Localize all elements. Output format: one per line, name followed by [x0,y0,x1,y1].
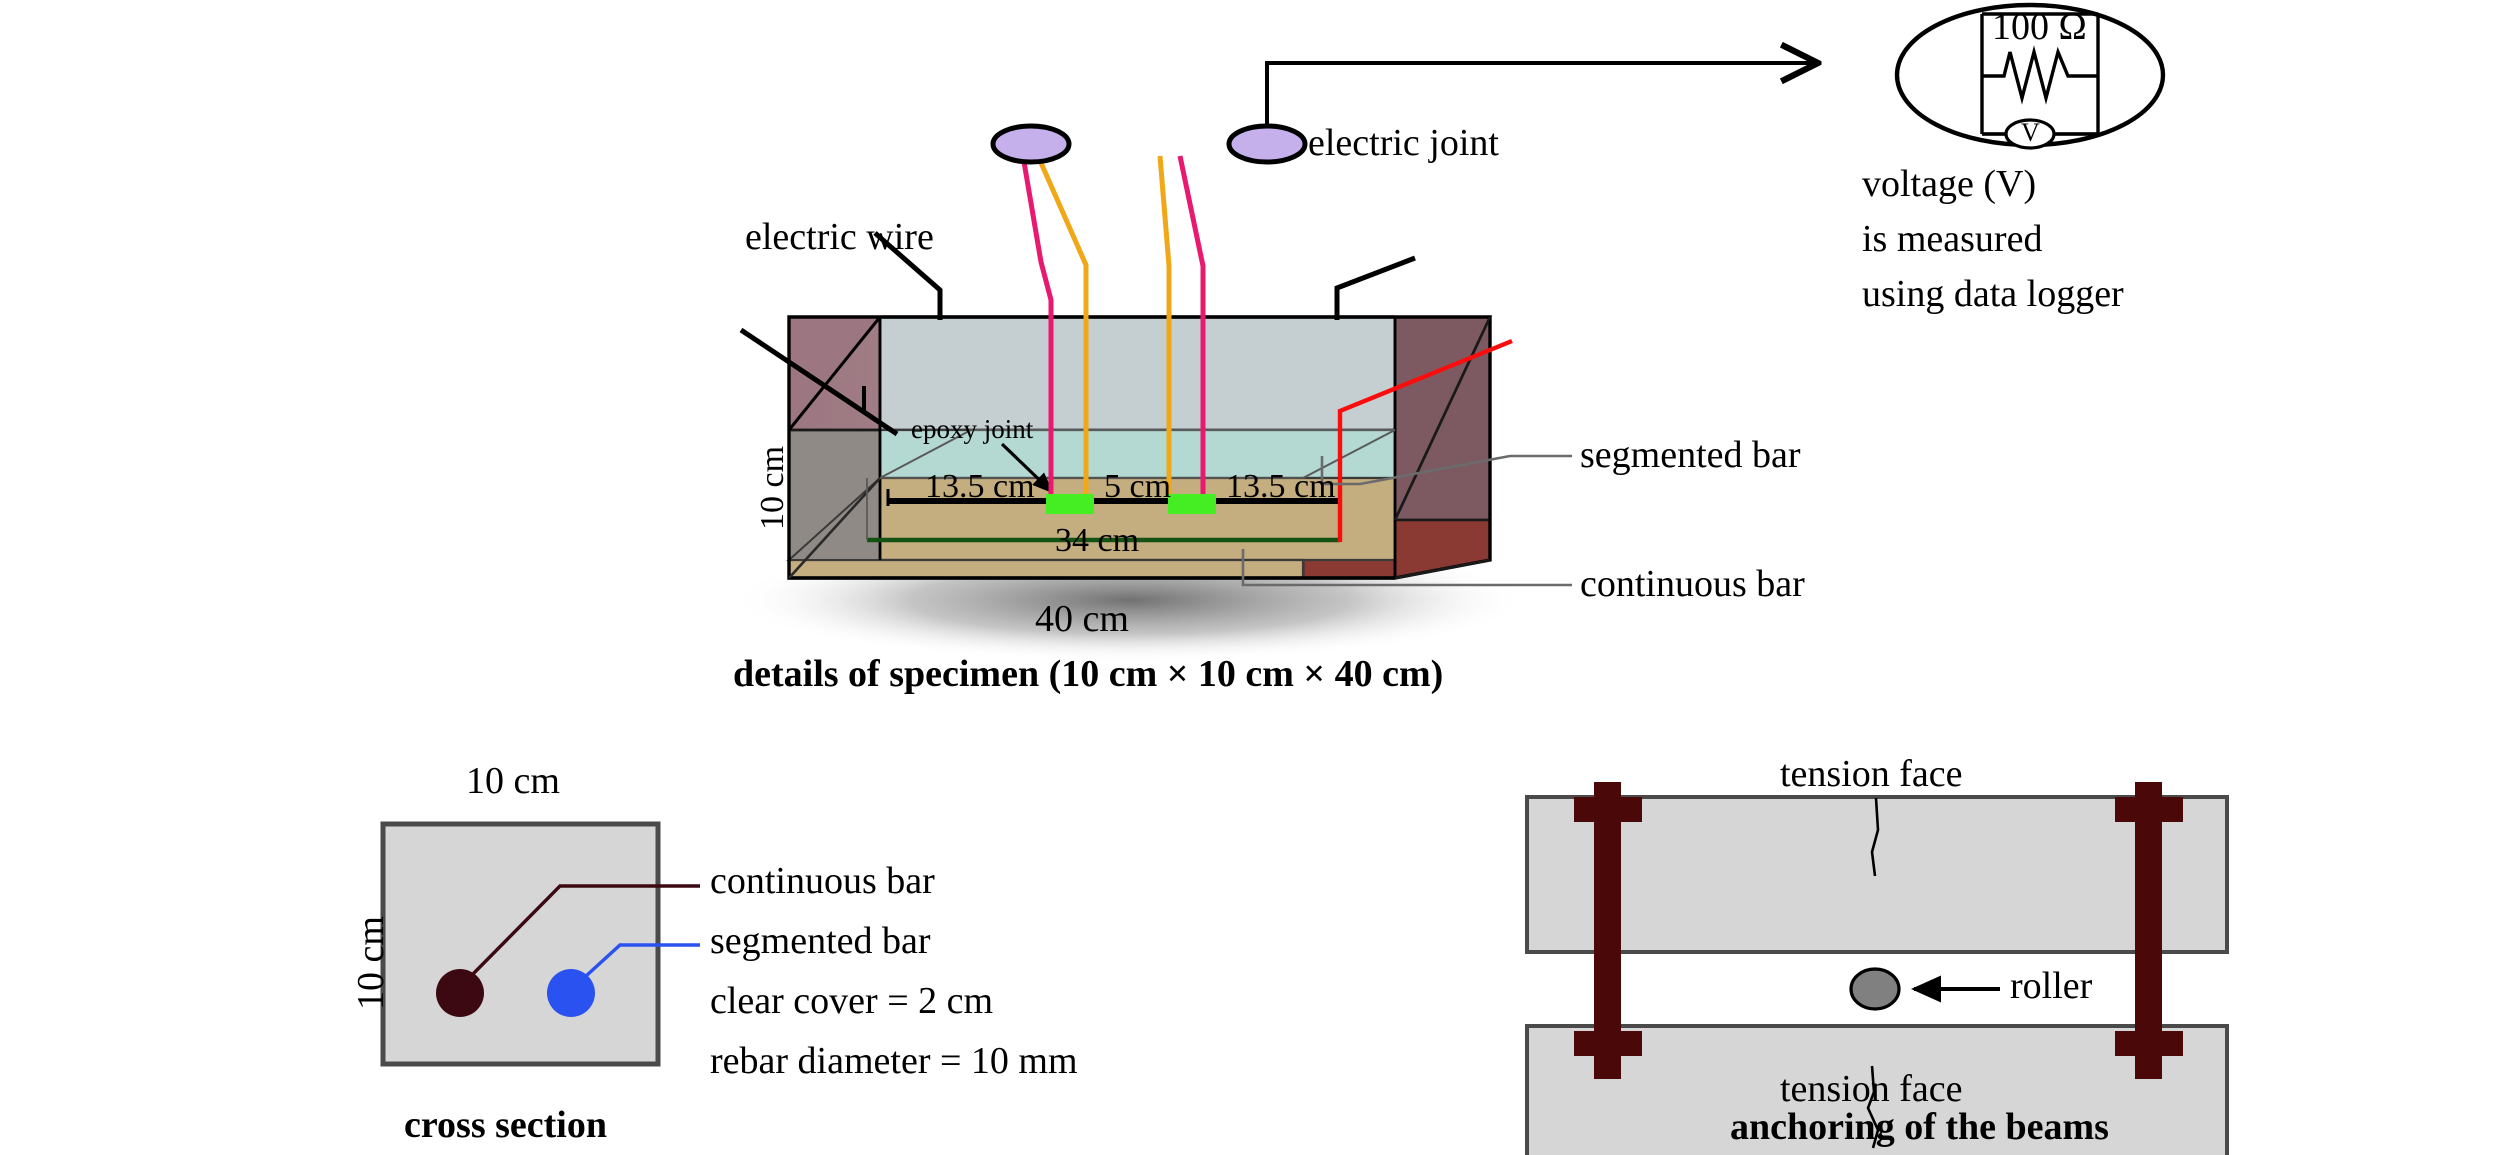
label-electric-wire: electric wire [745,218,934,256]
voltmeter-symbol-label: V [2021,120,2040,146]
figure-root: electric wire electric joint epoxy joint… [0,0,2520,1155]
label-epoxy-joint: epoxy joint [911,416,1033,443]
anchoring-top-tension-face-label: tension face [1780,755,1963,793]
label-segmented-bar: segmented bar [1580,436,1801,474]
anchoring-bottom-tension-face-label: tension face [1780,1070,1963,1108]
anchor-bolt-left-nut-top [1574,797,1642,822]
dim-middle-segment: 5 cm [1104,470,1171,504]
cs-annotation-segmented-bar: segmented bar [710,922,931,960]
anchoring-caption: anchoring of the beams [1730,1108,2109,1146]
roller-icon [1851,969,1899,1009]
cs-annotation-clear-cover: clear cover = 2 cm [710,982,993,1020]
anchor-bolt-right-nut-top [2115,797,2183,822]
dim-overall-length: 40 cm [1035,600,1129,638]
label-continuous-bar: continuous bar [1580,565,1805,603]
cs-annotation-continuous-bar: continuous bar [710,862,935,900]
anchor-bolt-left-nut-bottom [1574,1031,1642,1056]
cross-section-caption: cross section [404,1106,607,1144]
anchor-bolt-right-nut-bottom [2115,1031,2183,1056]
specimen-caption: details of specimen (10 cm × 10 cm × 40 … [733,655,1443,693]
cs-width-label: 10 cm [466,762,560,800]
label-electric-joint: electric joint [1308,124,1499,162]
dim-right-segment: 13.5 cm [1226,470,1336,504]
dim-specimen-height: 10 cm [756,446,790,530]
cs-annotation-rebar-diameter: rebar diameter = 10 mm [710,1042,1078,1080]
resistor-value-label: 100 Ω [1992,8,2087,46]
cs-height-label: 10 cm [352,916,390,1010]
circuit-note-line-3: using data logger [1862,275,2124,313]
dim-left-segment: 13.5 cm [925,470,1035,504]
roller-label: roller [2010,967,2092,1005]
dim-bar-length: 34 cm [1055,524,1139,558]
circuit-note-line-1: voltage (V) [1862,165,2036,203]
circuit-note-line-2: is measured [1862,220,2042,258]
